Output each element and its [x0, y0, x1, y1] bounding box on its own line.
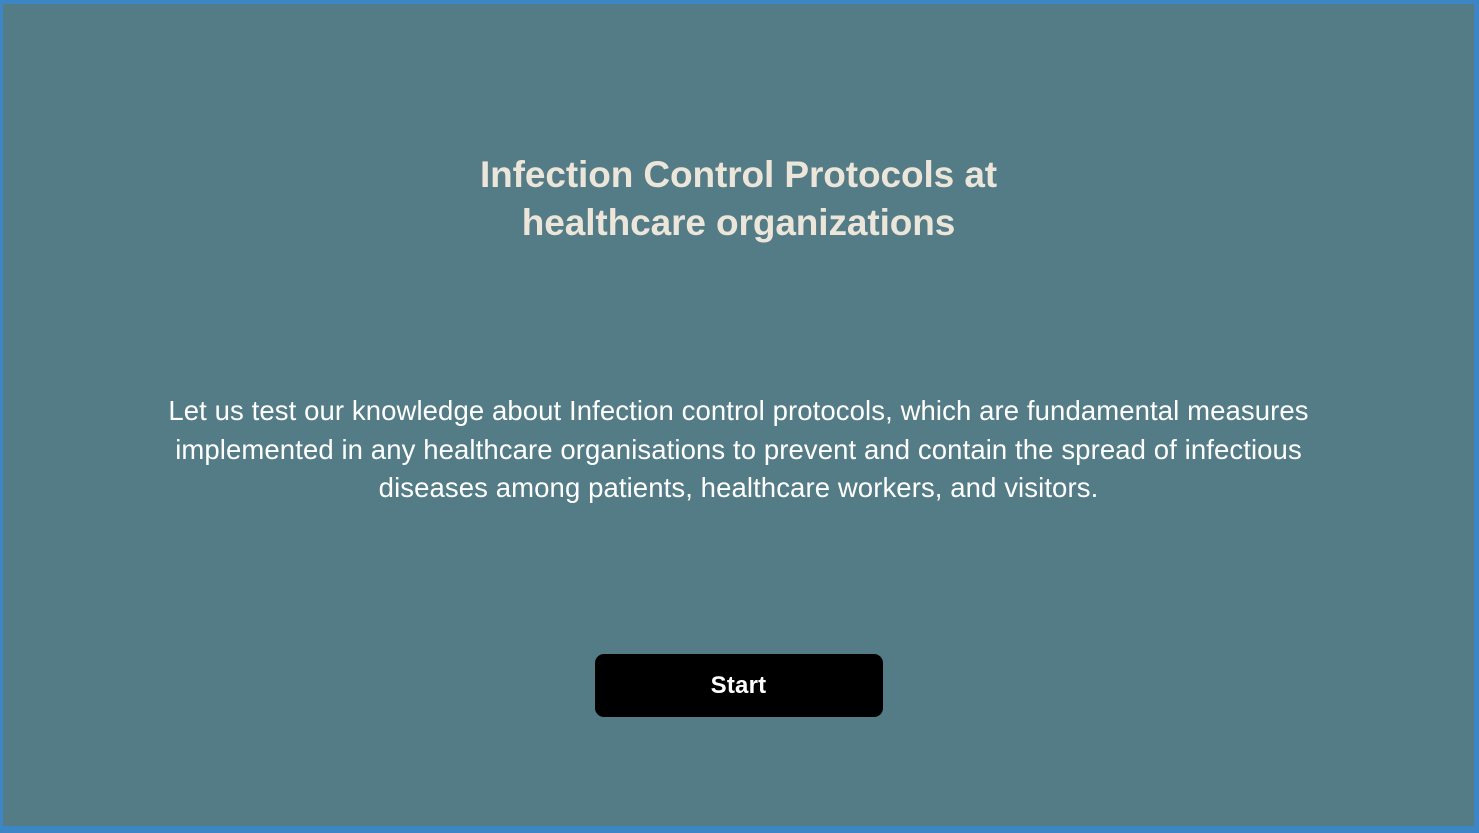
page-title-line-1: Infection Control Protocols at: [123, 151, 1354, 199]
start-button[interactable]: Start: [595, 654, 883, 717]
page-title-line-2: healthcare organizations: [123, 199, 1354, 247]
start-button-container: Start: [3, 654, 1474, 717]
page-title: Infection Control Protocols at healthcar…: [3, 151, 1474, 247]
quiz-intro-slide: Infection Control Protocols at healthcar…: [3, 4, 1474, 826]
app-frame: Infection Control Protocols at healthcar…: [0, 0, 1479, 833]
quiz-description: Let us test our knowledge about Infectio…: [131, 392, 1346, 508]
slide-content: Infection Control Protocols at healthcar…: [3, 4, 1474, 826]
